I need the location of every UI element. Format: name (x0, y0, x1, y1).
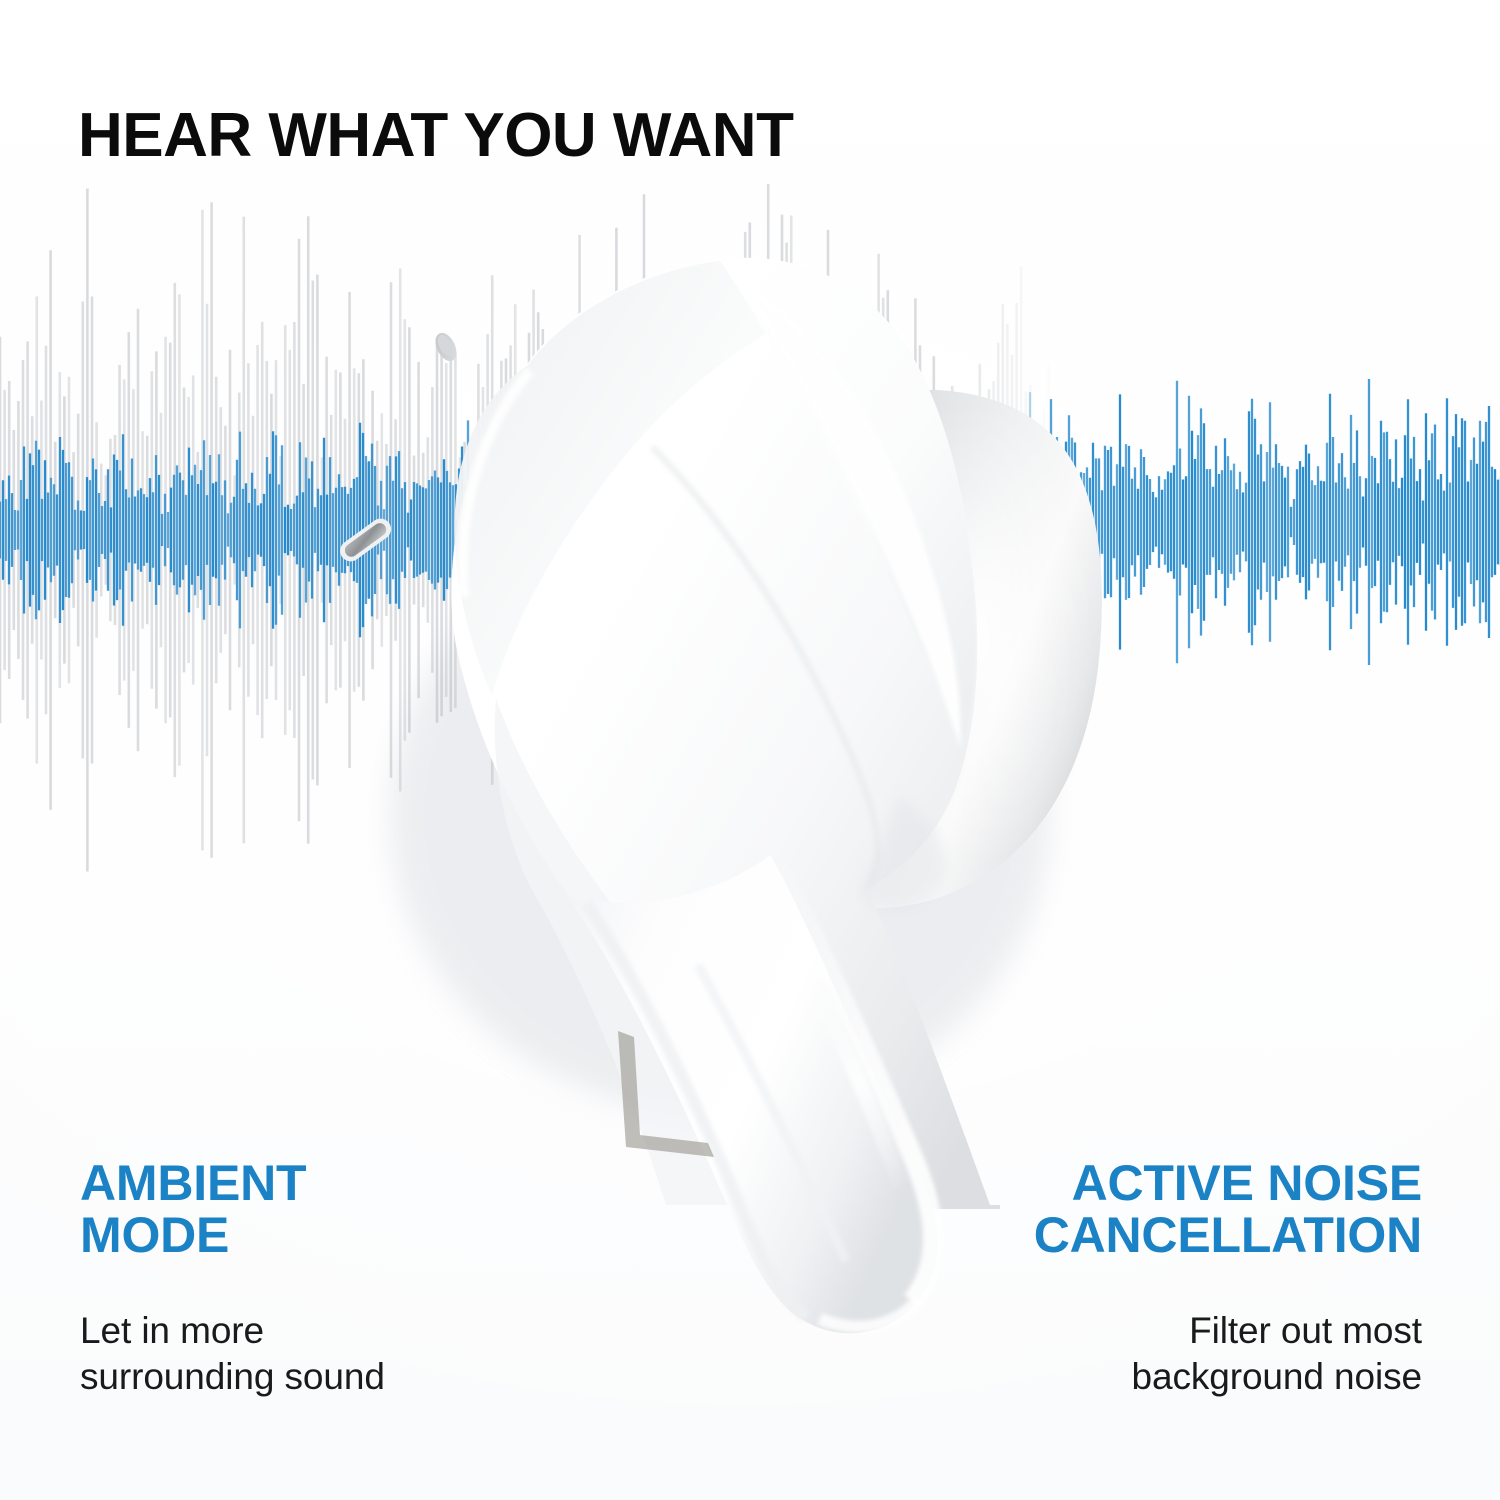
feature-ambient-title: AMBIENT MODE (80, 1158, 600, 1262)
feature-anc-description: Filter out most background noise (802, 1308, 1422, 1401)
feature-anc-desc-line-1: Filter out most (802, 1308, 1422, 1355)
feature-anc-title-line-1: ACTIVE NOISE (802, 1158, 1422, 1210)
feature-active-noise-cancellation: ACTIVE NOISE CANCELLATION Filter out mos… (802, 1158, 1422, 1401)
microphone-pinhole-icon (431, 330, 460, 365)
feature-anc-title-line-2: CANCELLATION (802, 1210, 1422, 1262)
feature-ambient-title-line-2: MODE (80, 1210, 600, 1262)
feature-ambient-mode: AMBIENT MODE Let in more surrounding sou… (80, 1158, 600, 1401)
feature-ambient-desc-line-1: Let in more (80, 1308, 600, 1355)
feature-ambient-title-line-1: AMBIENT (80, 1158, 600, 1210)
feature-ambient-description: Let in more surrounding sound (80, 1308, 600, 1401)
page-title: HEAR WHAT YOU WANT (78, 105, 793, 167)
feature-anc-title: ACTIVE NOISE CANCELLATION (802, 1158, 1422, 1262)
earbud-product-image (300, 195, 1100, 1205)
vent-slot-icon (336, 514, 395, 565)
feature-anc-desc-line-2: background noise (802, 1354, 1422, 1401)
poster-canvas: HEAR WHAT YOU WANT AMBIENT MODE Let in m… (0, 0, 1500, 1500)
feature-ambient-desc-line-2: surrounding sound (80, 1354, 600, 1401)
